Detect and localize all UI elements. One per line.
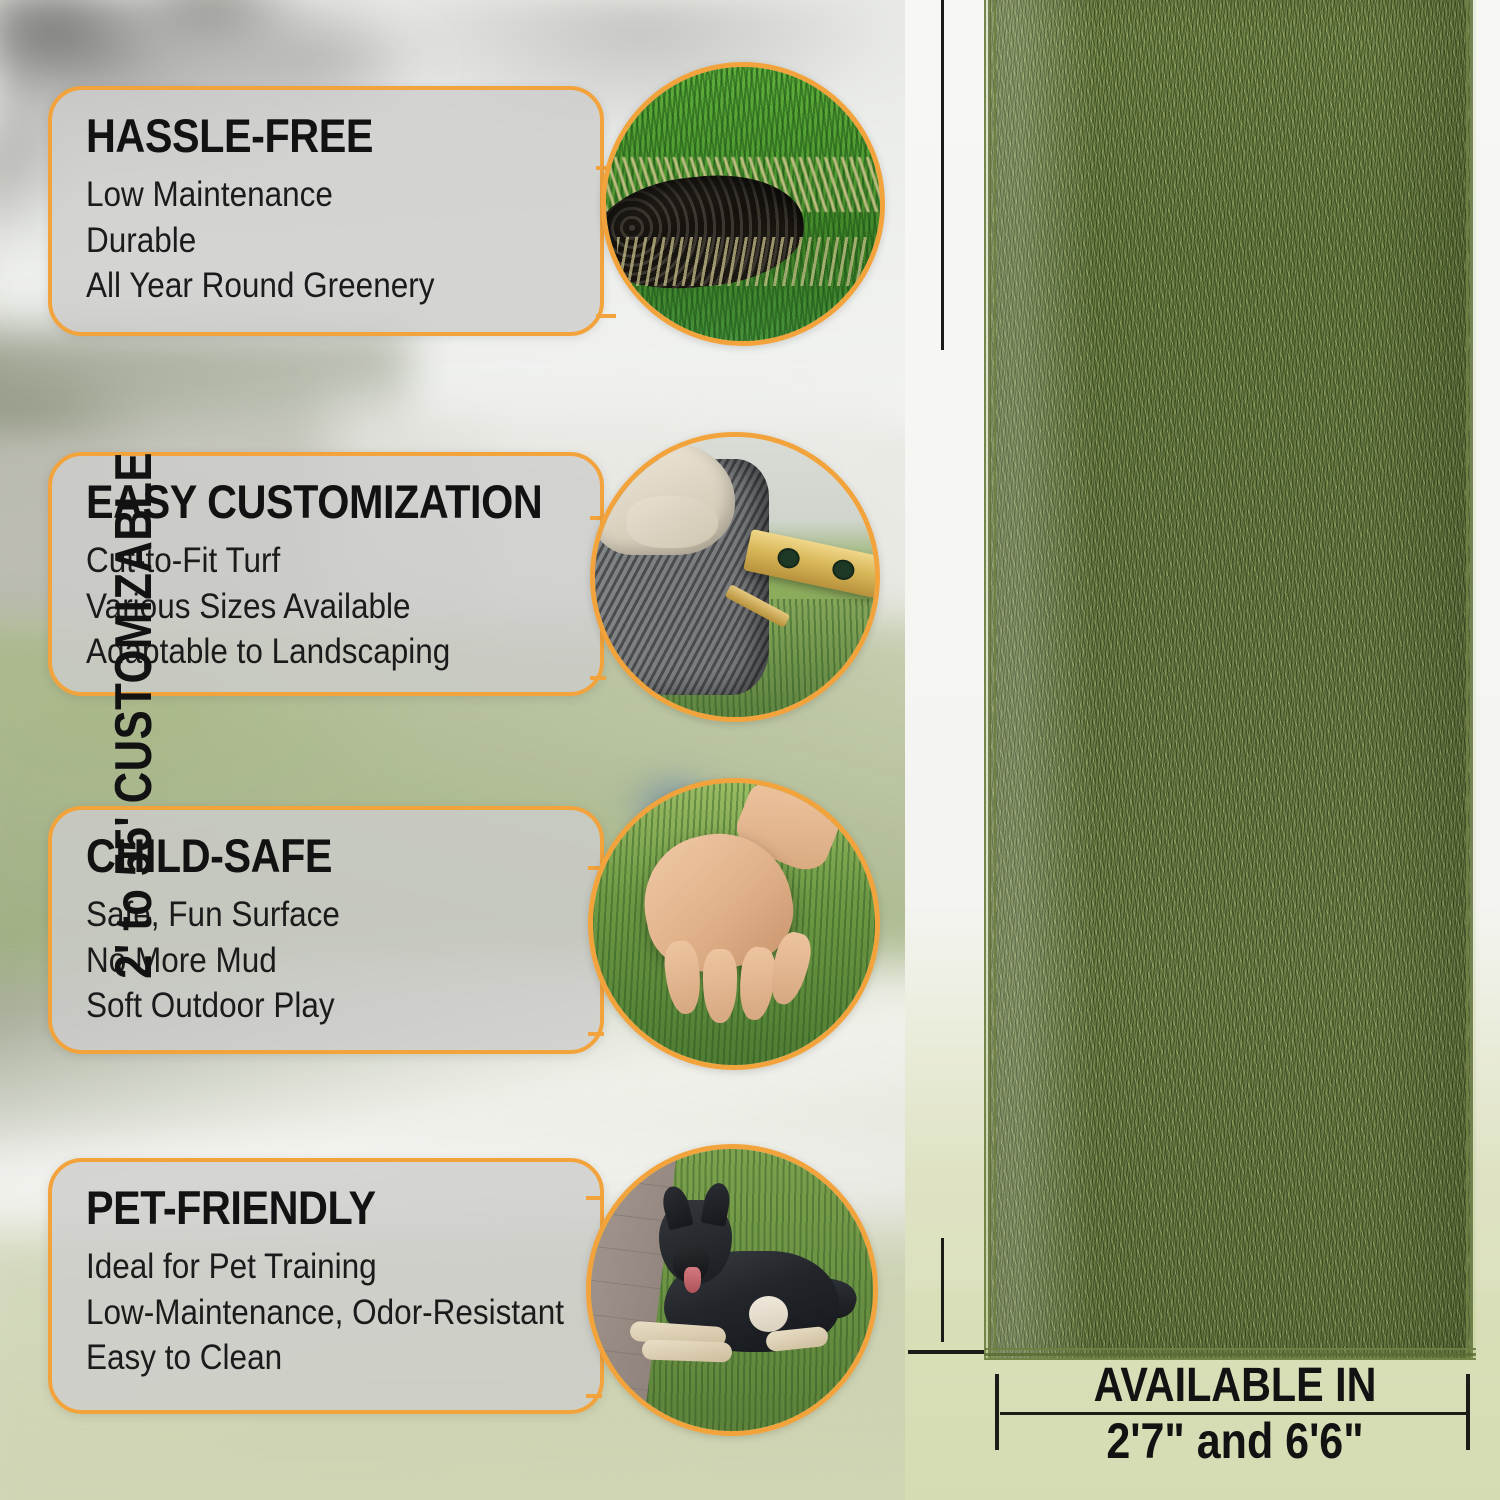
width-dimension-end-cap-right <box>1466 1374 1470 1450</box>
feature-bullet: Low-Maintenance, Odor-Resistant <box>86 1290 522 1336</box>
child-hand-on-turf-photo <box>588 778 880 1070</box>
work-glove <box>590 443 735 555</box>
feature-card-pet-friendly[interactable]: PET-FRIENDLY Ideal for Pet Training Low-… <box>48 1158 604 1414</box>
feature-bullet: Durable <box>86 218 522 264</box>
photo-content <box>606 67 880 341</box>
dog-tongue <box>684 1267 701 1292</box>
finger <box>703 949 737 1022</box>
turf-roll-shading <box>990 0 1470 1358</box>
width-dimension-label: AVAILABLE IN 2'7" and 6'6" <box>1020 1362 1450 1466</box>
dog-front-leg <box>641 1339 732 1362</box>
feature-card-hassle-free[interactable]: HASSLE-FREE Low Maintenance Durable All … <box>48 86 604 336</box>
artificial-grass-roll <box>990 0 1470 1358</box>
length-dimension-line-lower <box>941 1238 944 1342</box>
photo-content <box>595 437 875 717</box>
length-dimension-end-cap <box>908 1350 984 1354</box>
turf-fringe-left <box>984 0 996 1358</box>
feature-bullet-list: Ideal for Pet Training Low-Maintenance, … <box>86 1244 570 1381</box>
feature-bullet: Ideal for Pet Training <box>86 1244 522 1290</box>
available-sizes-text: 2'7" and 6'6" <box>1050 1416 1420 1466</box>
feature-bullet: Low Maintenance <box>86 172 522 218</box>
paver-path <box>586 1144 678 1436</box>
feature-bullet: Easy to Clean <box>86 1335 522 1381</box>
dog-on-turf-photo <box>586 1144 878 1436</box>
available-in-text: AVAILABLE IN <box>1050 1362 1420 1410</box>
turf-fringe-right <box>1466 0 1476 1358</box>
turf-thatch-layer-2 <box>617 237 869 286</box>
feature-title: PET-FRIENDLY <box>86 1184 512 1231</box>
feature-bullet-list: Low Maintenance Durable All Year Round G… <box>86 172 570 309</box>
photo-content <box>591 1149 873 1431</box>
length-dimension-label: 2' to 55' CUSTOMIZABLE <box>104 365 164 1065</box>
turf-cross-section-photo <box>601 62 885 346</box>
length-dimension-text: 2' to 55' CUSTOMIZABLE <box>104 452 164 979</box>
turf-installation-photo <box>590 432 880 722</box>
feature-bullet: All Year Round Greenery <box>86 263 522 309</box>
length-dimension-line-upper <box>941 0 944 350</box>
feature-title: HASSLE-FREE <box>86 112 512 159</box>
width-dimension-end-cap-left <box>995 1374 999 1450</box>
photo-content <box>593 783 875 1065</box>
